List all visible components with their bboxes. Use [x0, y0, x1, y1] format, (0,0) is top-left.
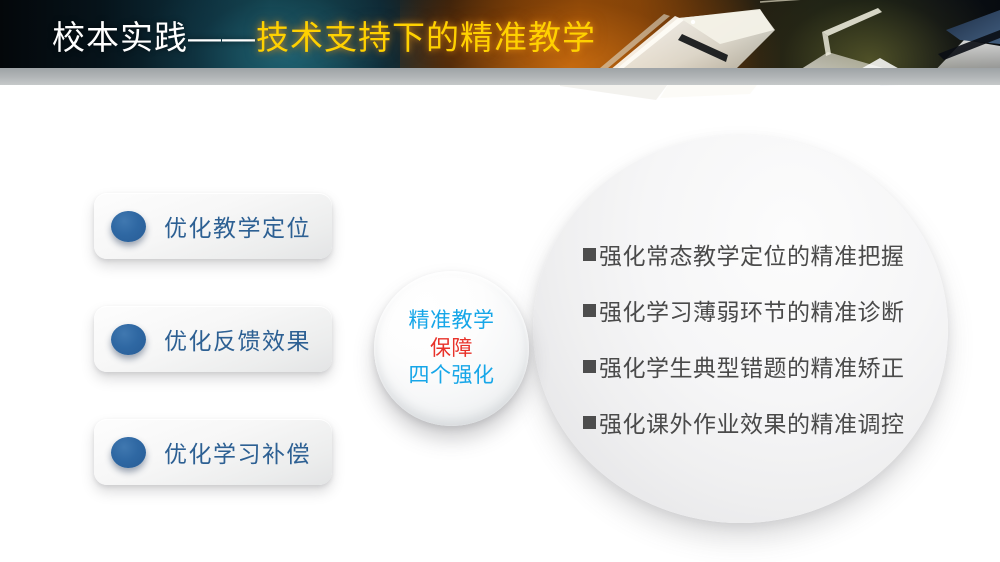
square-bullet-icon — [583, 248, 596, 261]
center-line-2: 保障 — [430, 335, 473, 363]
bullet-label: 强化常态教学定位的精准把握 — [599, 237, 905, 271]
header-abstract-artwork — [560, 0, 1000, 68]
slide-header-banner: 校本实践——技术支持下的精准教学 — [0, 0, 1000, 68]
bullet-label: 强化学生典型错题的精准矫正 — [599, 349, 905, 383]
bullet-label: 强化课外作业效果的精准调控 — [599, 405, 905, 439]
list-item: 强化课外作业效果的精准调控 — [583, 394, 963, 450]
presentation-slide: 校本实践——技术支持下的精准教学 强化常态教学定位的精准把握 强化学习薄弱环节的… — [0, 0, 1000, 562]
pill-optimize-feedback-effect[interactable]: 优化反馈效果 — [94, 306, 332, 372]
slide-title-accent: 技术支持下的精准教学 — [256, 11, 596, 59]
pill-optimize-teaching-position[interactable]: 优化教学定位 — [94, 193, 332, 259]
square-bullet-icon — [583, 360, 596, 373]
blue-circle-bullet-icon — [111, 437, 146, 468]
slide-title: 校本实践——技术支持下的精准教学 — [52, 8, 596, 62]
pill-label: 优化反馈效果 — [164, 322, 311, 356]
square-bullet-icon — [583, 416, 596, 429]
center-line-3: 四个强化 — [409, 362, 495, 390]
pill-optimize-learning-compensation[interactable]: 优化学习补偿 — [94, 419, 332, 485]
strategies-bullet-list: 强化常态教学定位的精准把握 强化学习薄弱环节的精准诊断 强化学生典型错题的精准矫… — [583, 226, 963, 450]
bullet-label: 强化学习薄弱环节的精准诊断 — [599, 293, 905, 327]
square-bullet-icon — [583, 304, 596, 317]
slide-title-primary: 校本实践—— — [52, 11, 256, 59]
blue-circle-bullet-icon — [111, 211, 146, 242]
list-item: 强化学生典型错题的精准矫正 — [583, 338, 963, 394]
pill-label: 优化学习补偿 — [164, 435, 311, 469]
blue-circle-bullet-icon — [111, 324, 146, 355]
center-line-1: 精准教学 — [409, 307, 495, 335]
center-sphere: 精准教学 保障 四个强化 — [374, 271, 529, 426]
pill-label: 优化教学定位 — [164, 209, 311, 243]
list-item: 强化常态教学定位的精准把握 — [583, 226, 963, 282]
list-item: 强化学习薄弱环节的精准诊断 — [583, 282, 963, 338]
header-gray-band — [0, 68, 1000, 85]
